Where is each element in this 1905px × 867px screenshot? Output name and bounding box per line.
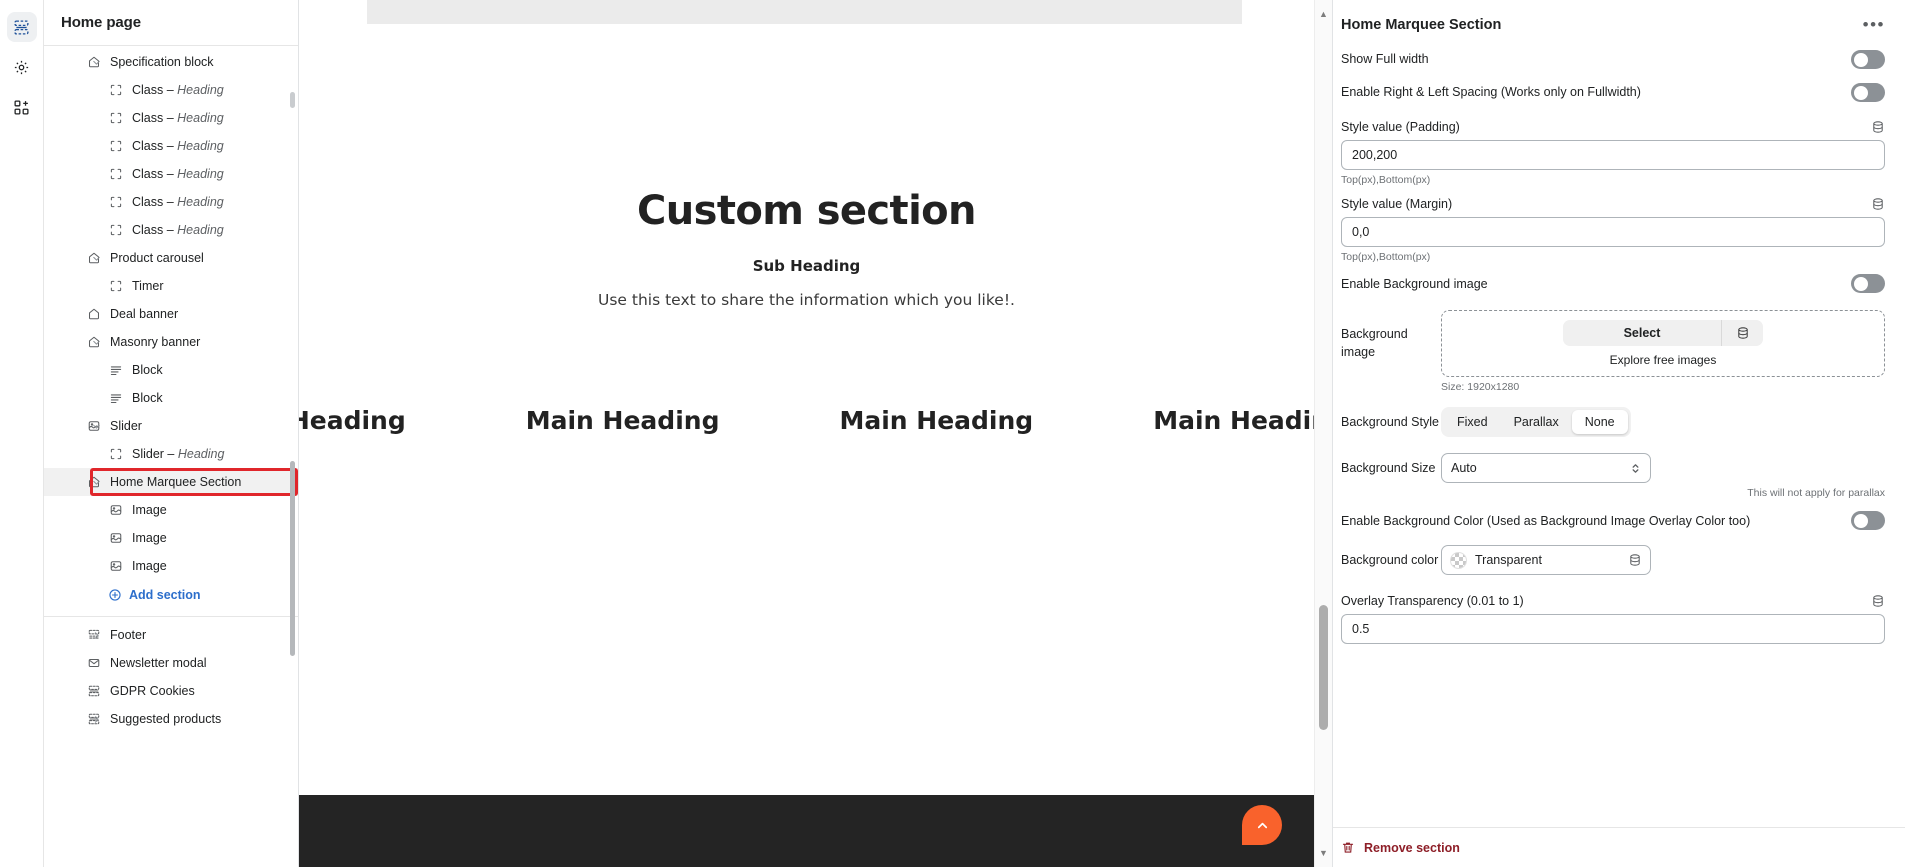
tree-item-label: Suggested products	[110, 712, 221, 726]
block-icon	[109, 195, 123, 209]
enable-bg-color-toggle[interactable]	[1851, 511, 1885, 530]
marquee-item: Main Heading	[1153, 406, 1314, 435]
database-icon	[1628, 553, 1642, 567]
text-lines-icon	[109, 363, 123, 377]
enable-bg-image-toggle[interactable]	[1851, 274, 1885, 293]
padding-input[interactable]: 200,200	[1341, 140, 1885, 170]
settings-gear-icon	[13, 59, 30, 76]
tree-item-label: Footer	[110, 628, 146, 642]
enable-bg-color-label: Enable Background Color (Used as Backgro…	[1341, 512, 1750, 530]
tree-item-home-marquee-section[interactable]: Home Marquee Section	[44, 468, 298, 496]
background-style-option-none[interactable]: None	[1572, 410, 1628, 434]
database-icon	[1871, 120, 1885, 134]
caret-down-icon[interactable]	[88, 418, 104, 434]
tree-item-label: Deal banner	[110, 307, 178, 321]
tree-item-label: Slider	[110, 419, 142, 433]
enable-bg-image-label: Enable Background image	[1341, 275, 1488, 293]
settings-panel-body: Show Full width Enable Right & Left Spac…	[1333, 43, 1905, 827]
hero-subheading: Sub Heading	[753, 257, 861, 275]
padding-label-row: Style value (Padding)	[1341, 109, 1885, 140]
caret-right-icon[interactable]	[88, 627, 104, 643]
settings-panel-title: Home Marquee Section	[1341, 17, 1501, 33]
tree-item-label: Specification block	[110, 55, 214, 69]
background-color-value: Transparent	[1475, 553, 1620, 567]
marquee-item: Main Heading	[839, 406, 1033, 435]
image-icon	[108, 502, 124, 518]
tree-item-masonry-banner[interactable]: Masonry banner	[44, 328, 298, 356]
margin-helper: Top(px),Bottom(px)	[1341, 247, 1885, 263]
block-icon	[108, 110, 124, 126]
add-section-label: Add section	[129, 588, 201, 602]
settings-panel-header: Home Marquee Section •••	[1333, 0, 1905, 43]
tree-item-class[interactable]: Class – Heading	[44, 188, 298, 216]
sidebar: Home page Specification block Class – He…	[44, 0, 299, 867]
tree-item-product-carousel[interactable]: Product carousel	[44, 244, 298, 272]
chevron-up-icon	[1255, 818, 1270, 833]
section-tree: Specification block Class – Heading Clas…	[44, 46, 298, 867]
rail-sections-button[interactable]	[7, 12, 37, 42]
add-section-button[interactable]: Add section	[44, 580, 298, 610]
tree-item-newsletter-modal[interactable]: Newsletter modal	[44, 649, 298, 677]
tree-item-label: Timer	[132, 279, 163, 293]
margin-label: Style value (Margin)	[1341, 195, 1452, 213]
background-style-label: Background Style	[1341, 414, 1441, 432]
block-icon	[109, 111, 123, 125]
tree-item-label: Image	[132, 559, 167, 573]
background-image-select-group: Select	[1563, 320, 1763, 346]
block-icon	[108, 138, 124, 154]
padding-label: Style value (Padding)	[1341, 118, 1460, 136]
tree-item-block[interactable]: Block	[44, 356, 298, 384]
block-icon	[108, 82, 124, 98]
tree-item-image[interactable]: Image	[44, 524, 298, 552]
background-style-row: Background Style FixedParallaxNone	[1341, 393, 1885, 437]
database-icon	[1871, 197, 1885, 211]
block-icon	[108, 166, 124, 182]
database-icon	[1871, 594, 1885, 608]
tree-item-label: Image	[132, 503, 167, 517]
background-size-row: Background Size Auto	[1341, 437, 1885, 483]
block-icon	[109, 83, 123, 97]
enable-bg-color-row: Enable Background Color (Used as Backgro…	[1341, 499, 1885, 537]
tree-item-class[interactable]: Class – Heading	[44, 76, 298, 104]
block-icon	[109, 167, 123, 181]
tree-item-label: Product carousel	[110, 251, 204, 265]
tree-item-label: Newsletter modal	[110, 656, 207, 670]
tree-item-slider[interactable]: Slider – Heading	[44, 440, 298, 468]
background-image-row: Background image Select Explore free ima…	[1341, 300, 1885, 377]
show-full-width-toggle[interactable]	[1851, 50, 1885, 69]
home-icon	[86, 306, 102, 322]
chevron-updown-icon	[1630, 462, 1641, 475]
caret-down-icon[interactable]	[88, 334, 104, 350]
trash-icon	[1341, 840, 1355, 855]
margin-label-row: Style value (Margin)	[1341, 186, 1885, 217]
tree-item-label: Class – Heading	[132, 195, 224, 209]
canvas-scroll-up-arrow[interactable]: ▲	[1315, 6, 1332, 22]
block-icon	[108, 222, 124, 238]
margin-dynamic-source-icon[interactable]	[1871, 197, 1885, 211]
rail-apps-button[interactable]	[7, 92, 37, 122]
page-title: Home page	[61, 14, 141, 31]
marquee-item: Main Heading	[299, 406, 406, 435]
background-size-select[interactable]: Auto	[1441, 453, 1651, 483]
sections-icon	[86, 683, 102, 699]
envelope-icon	[87, 656, 101, 670]
tree-item-specification-block[interactable]: Specification block	[44, 48, 298, 76]
plus-circle-icon	[108, 588, 122, 602]
caret-right-icon[interactable]	[88, 711, 104, 727]
background-color-dynamic-source-icon[interactable]	[1628, 553, 1642, 567]
apps-add-icon	[13, 99, 30, 116]
explore-free-images-link[interactable]: Explore free images	[1610, 353, 1717, 367]
caret-down-icon[interactable]	[88, 54, 104, 70]
tree-item-label: Class – Heading	[132, 111, 224, 125]
background-size-label: Background Size	[1341, 460, 1441, 478]
left-icon-rail	[0, 0, 44, 867]
preview-canvas: Custom section Sub Heading Use this text…	[299, 0, 1333, 867]
background-style-option-parallax[interactable]: Parallax	[1501, 410, 1572, 434]
overlay-transparency-input[interactable]: 0.5	[1341, 614, 1885, 644]
padding-helper: Top(px),Bottom(px)	[1341, 170, 1885, 186]
background-color-picker[interactable]: Transparent	[1441, 545, 1651, 575]
preview-footer-bar	[299, 795, 1314, 867]
tree-item-label: Class – Heading	[132, 223, 224, 237]
tree-item-class[interactable]: Class – Heading	[44, 104, 298, 132]
image-icon	[109, 503, 123, 517]
tree-item-label: GDPR Cookies	[110, 684, 195, 698]
tree-item-block[interactable]: Block	[44, 384, 298, 412]
sidebar-scrollbar-thumb[interactable]	[290, 461, 295, 656]
sections-icon	[87, 684, 101, 698]
right-left-spacing-label: Enable Right & Left Spacing (Works only …	[1341, 83, 1641, 101]
background-image-select-button[interactable]: Select	[1563, 320, 1721, 346]
image-icon	[108, 558, 124, 574]
settings-panel: Home Marquee Section ••• Show Full width…	[1333, 0, 1905, 867]
remove-section-label: Remove section	[1364, 841, 1460, 855]
enable-bg-image-row: Enable Background image	[1341, 263, 1885, 300]
sidebar-header: Home page	[44, 0, 298, 46]
background-color-row: Background color Transparent	[1341, 537, 1885, 575]
canvas-scrollbar-thumb[interactable]	[1319, 605, 1328, 730]
tree-item-deal-banner[interactable]: Deal banner	[44, 300, 298, 328]
tree-item-gdpr-cookies[interactable]: GDPR Cookies	[44, 677, 298, 705]
block-icon	[109, 279, 123, 293]
home-icon	[87, 307, 101, 321]
background-image-dynamic-source-icon[interactable]	[1721, 320, 1763, 346]
sections-icon	[13, 19, 30, 36]
app-root: Home page Specification block Class – He…	[0, 0, 1905, 867]
background-size-value: Auto	[1451, 461, 1477, 475]
tree-item-class[interactable]: Class – Heading	[44, 132, 298, 160]
background-image-size-note: Size: 1920x1280	[1341, 377, 1885, 393]
background-color-label: Background color	[1341, 552, 1441, 570]
tree-item-label: Class – Heading	[132, 167, 224, 181]
tree-item-label: Block	[132, 363, 163, 377]
block-icon	[109, 223, 123, 237]
background-size-helper: This will not apply for parallax	[1341, 483, 1885, 499]
caret-down-icon[interactable]	[88, 250, 104, 266]
image-icon	[109, 531, 123, 545]
tree-item-label: Block	[132, 391, 163, 405]
block-icon	[108, 194, 124, 210]
hero-heading: Custom section	[637, 191, 976, 231]
envelope-icon	[86, 655, 102, 671]
preview-topbar-strip	[367, 0, 1242, 24]
canvas-scroll-down-arrow[interactable]: ▼	[1315, 845, 1332, 861]
image-icon	[109, 559, 123, 573]
sidebar-scrollbar-thumb-top[interactable]	[290, 92, 295, 108]
tree-item-label: Slider – Heading	[132, 447, 224, 461]
margin-input[interactable]: 0,0	[1341, 217, 1885, 247]
text-lines-icon	[109, 391, 123, 405]
tree-item-label: Home Marquee Section	[110, 475, 241, 489]
overlay-transparency-dynamic-source-icon[interactable]	[1871, 594, 1885, 608]
tree-item-label: Class – Heading	[132, 83, 224, 97]
text-lines-icon	[108, 390, 124, 406]
ellipsis-icon[interactable]: •••	[1863, 16, 1885, 33]
text-lines-icon	[108, 362, 124, 378]
padding-dynamic-source-icon[interactable]	[1871, 120, 1885, 134]
tree-item-label: Masonry banner	[110, 335, 200, 349]
preview-viewport: Custom section Sub Heading Use this text…	[299, 0, 1314, 867]
remove-section-button[interactable]: Remove section	[1341, 840, 1885, 855]
canvas-scrollbar[interactable]: ▲ ▼	[1314, 0, 1332, 867]
tree-item-class[interactable]: Class – Heading	[44, 160, 298, 188]
settings-panel-footer: Remove section	[1333, 827, 1905, 867]
image-icon	[108, 530, 124, 546]
tree-item-timer[interactable]: Timer	[44, 272, 298, 300]
block-icon	[108, 446, 124, 462]
tree-item-slider[interactable]: Slider	[44, 412, 298, 440]
tree-item-label: Class – Heading	[132, 139, 224, 153]
background-style-segmented-control: FixedParallaxNone	[1441, 407, 1631, 437]
marquee-item: Main Heading	[526, 406, 720, 435]
marquee-track: Main HeadingMain HeadingMain HeadingMain…	[299, 406, 1314, 435]
background-style-option-fixed[interactable]: Fixed	[1444, 410, 1501, 434]
tree-item-image[interactable]: Image	[44, 552, 298, 580]
overlay-transparency-label: Overlay Transparency (0.01 to 1)	[1341, 592, 1524, 610]
background-image-label: Background image	[1341, 326, 1441, 361]
transparent-swatch-icon	[1450, 552, 1467, 569]
caret-down-icon[interactable]	[88, 474, 104, 490]
show-full-width-label: Show Full width	[1341, 50, 1429, 68]
rail-settings-button[interactable]	[7, 52, 37, 82]
tree-item-suggested-products[interactable]: Suggested products	[44, 705, 298, 733]
tree-item-footer[interactable]: Footer	[44, 621, 298, 649]
right-left-spacing-toggle[interactable]	[1851, 83, 1885, 102]
block-icon	[109, 139, 123, 153]
hero-body-text: Use this text to share the information w…	[598, 291, 1015, 309]
show-full-width-row: Show Full width	[1341, 43, 1885, 76]
block-icon	[108, 278, 124, 294]
tree-item-label: Image	[132, 531, 167, 545]
block-icon	[109, 447, 123, 461]
custom-section-hero[interactable]: Custom section Sub Heading Use this text…	[299, 26, 1314, 381]
background-image-dropzone[interactable]: Select Explore free images	[1441, 310, 1885, 377]
tree-item-image[interactable]: Image	[44, 496, 298, 524]
tree-item-class[interactable]: Class – Heading	[44, 216, 298, 244]
overlay-transparency-label-row: Overlay Transparency (0.01 to 1)	[1341, 575, 1885, 614]
home-marquee-section[interactable]: Main HeadingMain HeadingMain HeadingMain…	[299, 385, 1314, 455]
sidebar-tree-scroll-area[interactable]: Specification block Class – Heading Clas…	[44, 46, 298, 867]
scroll-to-top-button[interactable]	[1242, 805, 1282, 845]
sidebar-divider	[44, 616, 298, 617]
right-left-spacing-row: Enable Right & Left Spacing (Works only …	[1341, 76, 1885, 109]
database-icon	[1736, 326, 1750, 340]
